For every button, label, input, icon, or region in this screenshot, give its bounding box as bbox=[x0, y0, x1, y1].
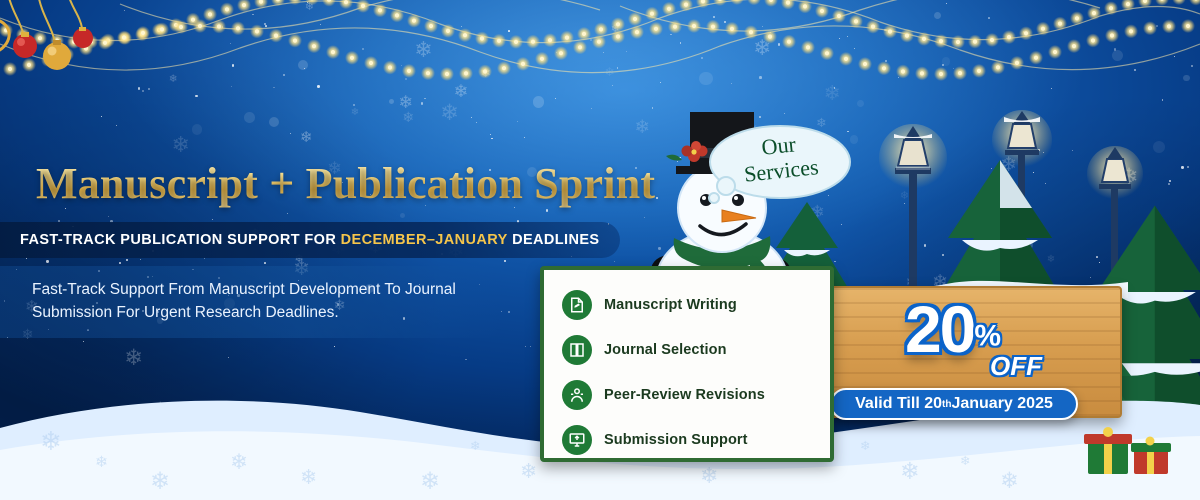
service-label: Submission Support bbox=[604, 432, 748, 448]
validity-badge: Valid Till 20th January 2025 bbox=[830, 388, 1078, 420]
service-label: Manuscript Writing bbox=[604, 297, 737, 313]
reviewer-person-icon bbox=[562, 380, 592, 410]
service-item-peer-review-revisions[interactable]: Peer-Review Revisions bbox=[562, 372, 820, 417]
service-item-submission-support[interactable]: Submission Support bbox=[562, 417, 820, 462]
subtitle-after: DEADLINES bbox=[508, 232, 600, 248]
discount-badge: 20% OFF bbox=[858, 296, 1048, 386]
subtitle-before: FAST-TRACK PUBLICATION SUPPORT FOR bbox=[20, 232, 341, 248]
service-item-manuscript-writing[interactable]: Manuscript Writing bbox=[562, 282, 820, 327]
validity-ordinal: th bbox=[942, 399, 951, 410]
document-pen-icon bbox=[562, 290, 592, 320]
validity-before: Valid Till 20 bbox=[855, 395, 942, 413]
service-label: Journal Selection bbox=[604, 342, 727, 358]
service-item-journal-selection[interactable]: Journal Selection bbox=[562, 327, 820, 372]
discount-off-label: OFF bbox=[990, 351, 1042, 382]
subtitle-bar: FAST-TRACK PUBLICATION SUPPORT FOR DECEM… bbox=[0, 222, 620, 258]
services-board: Manuscript Writing Journal Selection Pee… bbox=[540, 266, 834, 462]
page-title: Manuscript + Publication Sprint bbox=[36, 158, 655, 209]
gift-boxes bbox=[1082, 418, 1192, 480]
discount-percent: % bbox=[974, 320, 1001, 353]
service-label: Peer-Review Revisions bbox=[604, 387, 765, 403]
book-icon bbox=[562, 335, 592, 365]
validity-after: January 2025 bbox=[951, 395, 1052, 413]
description-text: Fast-Track Support From Manuscript Devel… bbox=[0, 266, 500, 338]
holiday-promo-banner: ❄❄❄❄❄❄❄❄❄❄❄❄❄❄❄❄❄❄❄❄❄❄❄❄❄❄❄❄❄❄❄❄❄❄❄❄❄❄❄❄… bbox=[0, 0, 1200, 500]
hanging-ornaments bbox=[0, 0, 180, 144]
discount-number: 20 bbox=[905, 292, 974, 366]
monitor-upload-icon bbox=[562, 425, 592, 455]
subtitle-highlight: DECEMBER–JANUARY bbox=[341, 232, 508, 248]
